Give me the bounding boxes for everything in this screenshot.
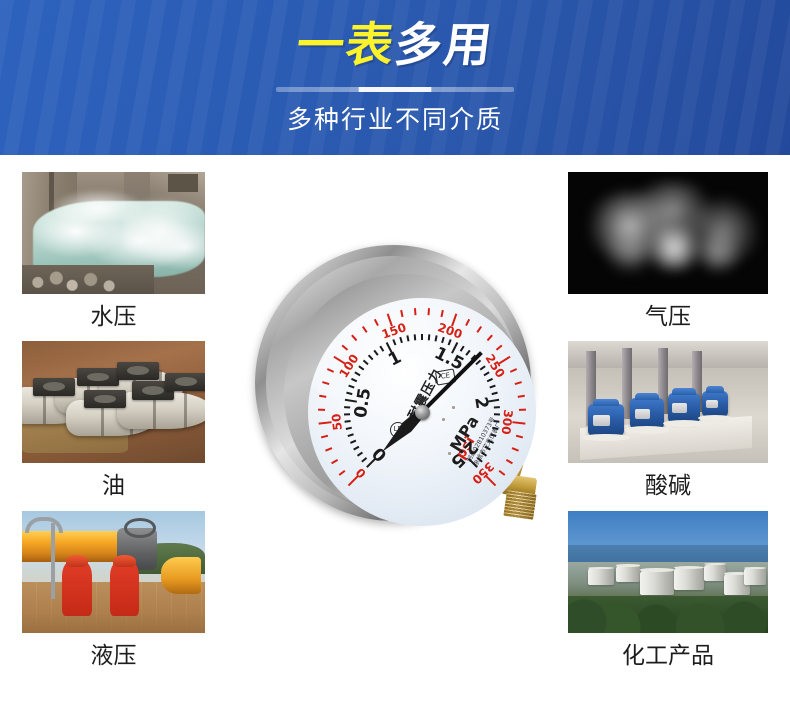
photo-air-pressure-smoke <box>568 172 768 294</box>
gauge-label-mpa: 0.5 <box>351 386 375 419</box>
photo-chemical-pumps <box>568 341 768 463</box>
title-divider <box>276 87 514 92</box>
page-title: 一表多用 <box>0 17 790 75</box>
page-title-highlight: 一表 <box>294 18 399 73</box>
gauge-glass-ring: 耐震压力 CE LB MPa psi 制造02B10373号 余姚市艾克仪表厂 <box>284 274 524 514</box>
card-label-hydraulic: 液压 <box>10 641 217 671</box>
card-label-air: 气压 <box>564 302 772 332</box>
header-banner: 一表多用 多种行业不同介质 <box>0 0 790 155</box>
photo-hydraulic-pipeline <box>22 511 205 633</box>
page-title-rest: 多用 <box>392 18 497 73</box>
pressure-gauge: 耐震压力 CE LB MPa psi 制造02B10373号 余姚市艾克仪表厂 <box>249 240 541 530</box>
photo-water-pressure <box>22 172 205 294</box>
photo-coastal-tank-farm <box>568 511 768 633</box>
photo-oil-tanks <box>22 341 205 463</box>
gauge-label-psi: 50 <box>329 413 345 431</box>
gauge-housing: 耐震压力 CE LB MPa psi 制造02B10373号 余姚市艾克仪表厂 <box>255 245 531 521</box>
card-label-acid-alkali: 酸碱 <box>564 471 772 501</box>
card-label-chemical-products: 化工产品 <box>564 641 772 671</box>
product-feature-banner-page: 一表多用 多种行业不同介质 水压 <box>0 0 790 712</box>
card-label-oil: 油 <box>10 471 217 501</box>
gauge-bezel: 耐震压力 CE LB MPa psi 制造02B10373号 余姚市艾克仪表厂 <box>266 256 520 510</box>
gauge-needle-hub <box>415 405 430 420</box>
gauge-dial-face: 耐震压力 CE LB MPa psi 制造02B10373号 余姚市艾克仪表厂 <box>308 298 536 526</box>
card-label-water: 水压 <box>10 302 217 332</box>
page-subtitle: 多种行业不同介质 <box>0 100 790 140</box>
